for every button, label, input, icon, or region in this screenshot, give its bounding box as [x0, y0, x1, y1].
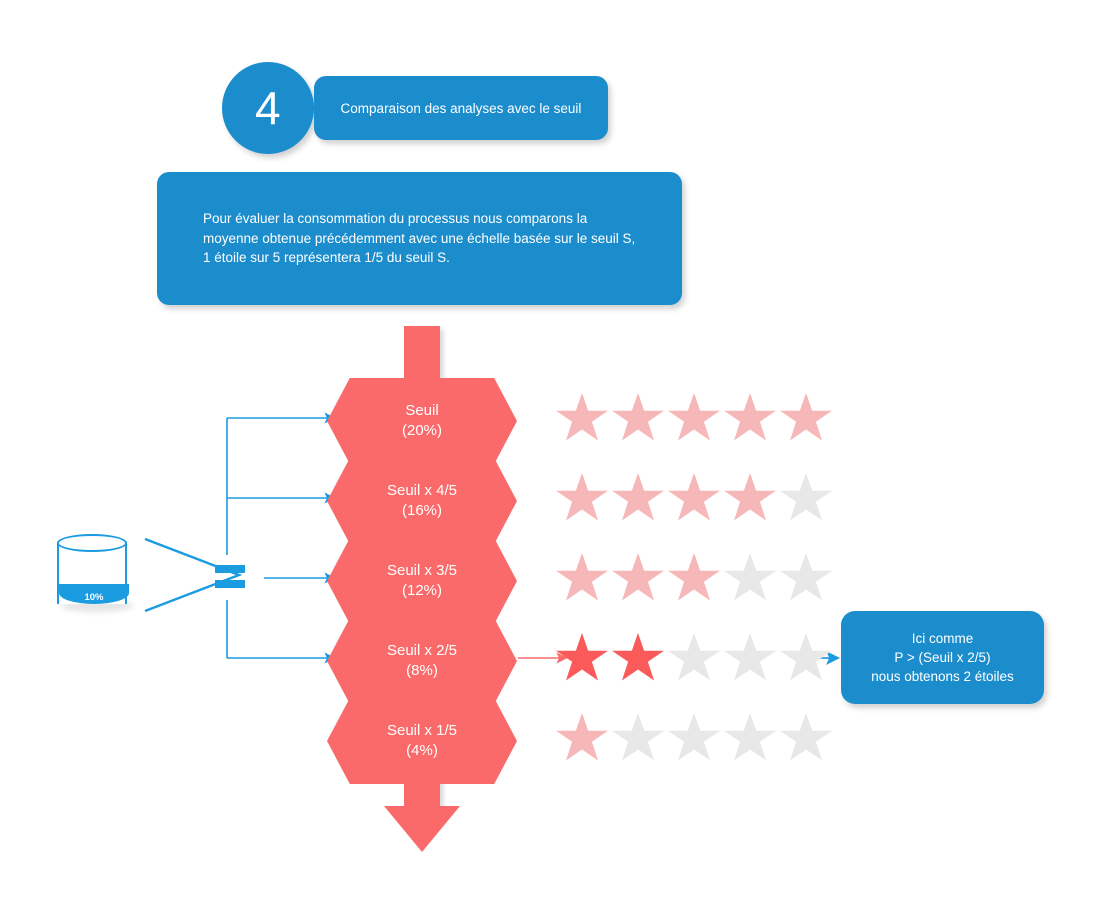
threshold-level-4: Seuil x 2/5(8%): [327, 618, 517, 704]
database-cylinder-icon: 10%: [57, 534, 127, 612]
star-filled-icon: [612, 393, 664, 443]
star-filled-icon: [724, 393, 776, 443]
star-filled-icon: [612, 473, 664, 523]
threshold-level-2: Seuil x 4/5(16%): [327, 458, 517, 544]
threshold-level-percent: (4%): [406, 741, 438, 761]
description-box: Pour évaluer la consommation du processu…: [157, 172, 682, 305]
cylinder-top-ellipse: [57, 534, 127, 552]
star-filled-icon: [556, 473, 608, 523]
threshold-level-label: Seuil x 3/5: [387, 561, 457, 581]
star-empty-icon: [780, 553, 832, 603]
star-filled-icon: [668, 473, 720, 523]
star-filled-icon: [780, 393, 832, 443]
diagram-canvas: 4 Comparaison des analyses avec le seuil…: [0, 0, 1103, 917]
section-title-label: Comparaison des analyses avec le seuil: [341, 100, 582, 117]
cylinder-percent-label: 10%: [84, 593, 103, 603]
threshold-level-percent: (8%): [406, 661, 438, 681]
star-rating-row-1: [556, 393, 832, 443]
star-empty-icon: [724, 633, 776, 683]
threshold-level-label: Seuil x 2/5: [387, 641, 457, 661]
star-filled-icon: [668, 553, 720, 603]
callout-line-1: Ici comme: [871, 629, 1014, 648]
result-callout-text: Ici comme P > (Seuil x 2/5) nous obtenon…: [871, 629, 1014, 686]
star-filled-icon: [612, 553, 664, 603]
threshold-level-label: Seuil x 1/5: [387, 721, 457, 741]
star-filled-icon: [556, 553, 608, 603]
star-filled-icon: [612, 633, 664, 683]
star-empty-icon: [780, 713, 832, 763]
star-filled-icon: [556, 393, 608, 443]
star-filled-icon: [556, 713, 608, 763]
star-rating-row-4: [556, 633, 832, 683]
equals-bar-bottom: [215, 580, 245, 588]
pipeline-arrow-top-stem: [404, 326, 440, 384]
star-empty-icon: [724, 713, 776, 763]
threshold-level-percent: (12%): [402, 581, 442, 601]
equals-bar-top: [215, 565, 245, 573]
threshold-level-5: Seuil x 1/5(4%): [327, 698, 517, 784]
star-empty-icon: [780, 473, 832, 523]
star-filled-icon: [668, 393, 720, 443]
threshold-level-1: Seuil(20%): [327, 378, 517, 464]
star-empty-icon: [612, 713, 664, 763]
threshold-level-3: Seuil x 3/5(12%): [327, 538, 517, 624]
star-rating-row-5: [556, 713, 832, 763]
star-filled-icon: [724, 473, 776, 523]
step-number-badge: 4: [222, 62, 314, 154]
star-rating-row-2: [556, 473, 832, 523]
threshold-level-percent: (20%): [402, 421, 442, 441]
star-empty-icon: [668, 633, 720, 683]
pipeline-arrow-down-icon: [384, 806, 460, 852]
star-filled-icon: [556, 633, 608, 683]
cylinder-fill-level: 10%: [59, 584, 129, 604]
section-title-box: Comparaison des analyses avec le seuil: [314, 76, 608, 140]
threshold-level-label: Seuil x 4/5: [387, 481, 457, 501]
star-empty-icon: [668, 713, 720, 763]
callout-line-3: nous obtenons 2 étoiles: [871, 667, 1014, 686]
threshold-level-percent: (16%): [402, 501, 442, 521]
result-callout-box: Ici comme P > (Seuil x 2/5) nous obtenon…: [841, 611, 1044, 704]
threshold-level-label: Seuil: [405, 401, 438, 421]
star-rating-row-3: [556, 553, 832, 603]
star-empty-icon: [780, 633, 832, 683]
step-number-label: 4: [255, 85, 281, 131]
description-text: Pour évaluer la consommation du processu…: [203, 209, 638, 268]
star-empty-icon: [724, 553, 776, 603]
equals-icon: [215, 565, 245, 588]
callout-line-2: P > (Seuil x 2/5): [871, 648, 1014, 667]
